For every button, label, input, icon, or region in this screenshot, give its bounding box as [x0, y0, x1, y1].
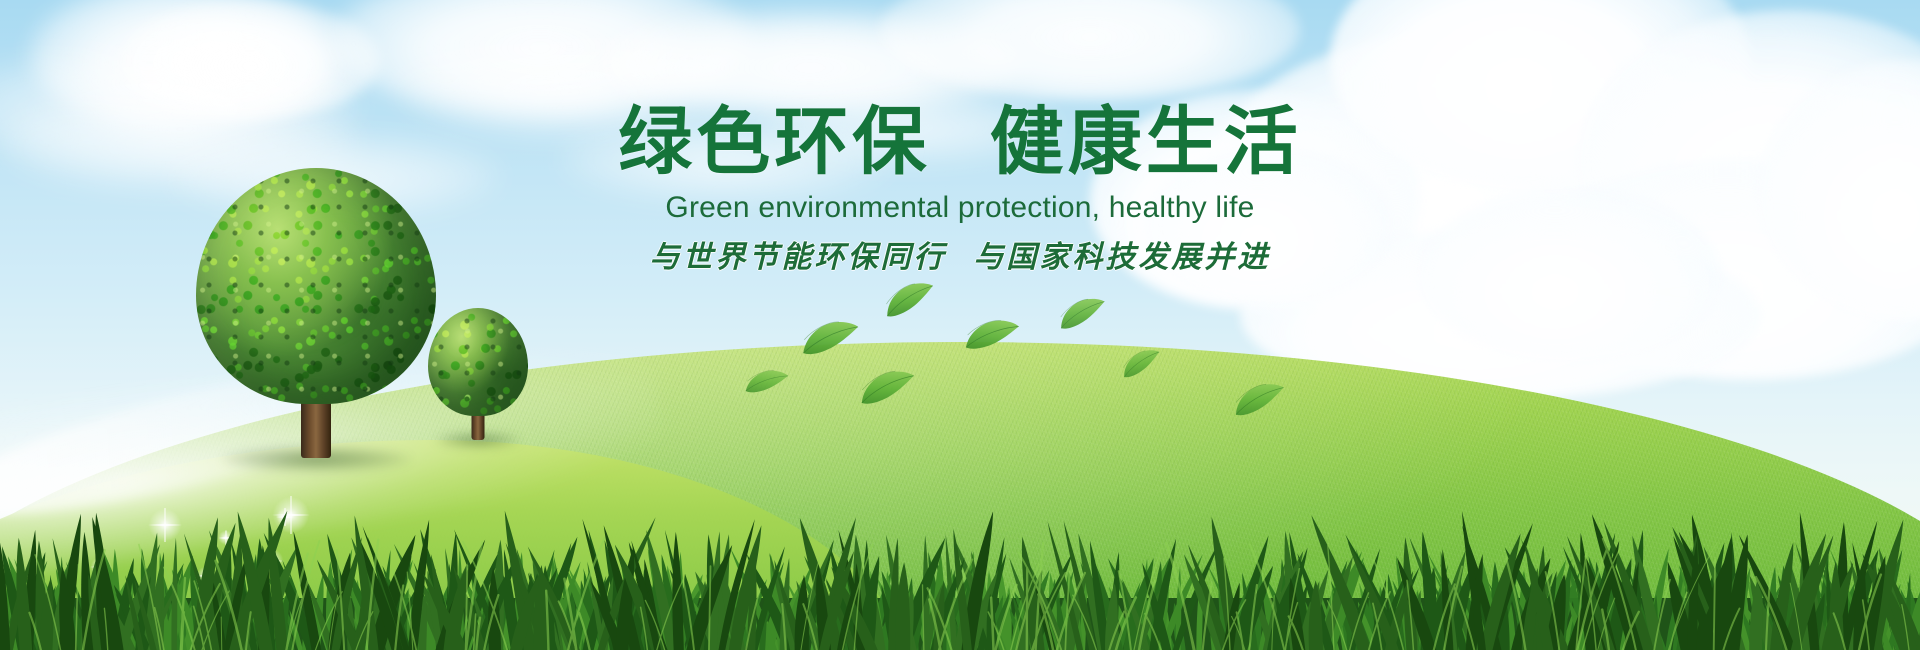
eco-hero-banner: 绿色环保 健康生活 Green environmental protection…	[0, 0, 1920, 650]
small-deciduous-tree	[428, 308, 528, 440]
foreground-grass-blades	[0, 480, 1920, 650]
large-tree-canopy	[196, 168, 436, 404]
cumulus-puff-a	[1150, 150, 1390, 300]
cumulus-puff-b	[1420, 190, 1720, 360]
small-tree-canopy	[428, 308, 528, 416]
large-deciduous-tree	[196, 168, 436, 458]
canopy-foliage-speckles	[196, 168, 436, 404]
grass-blades-svg	[0, 480, 1920, 650]
small-canopy-foliage-speckles	[428, 308, 528, 416]
cloud-right-wisp	[760, 90, 1060, 160]
